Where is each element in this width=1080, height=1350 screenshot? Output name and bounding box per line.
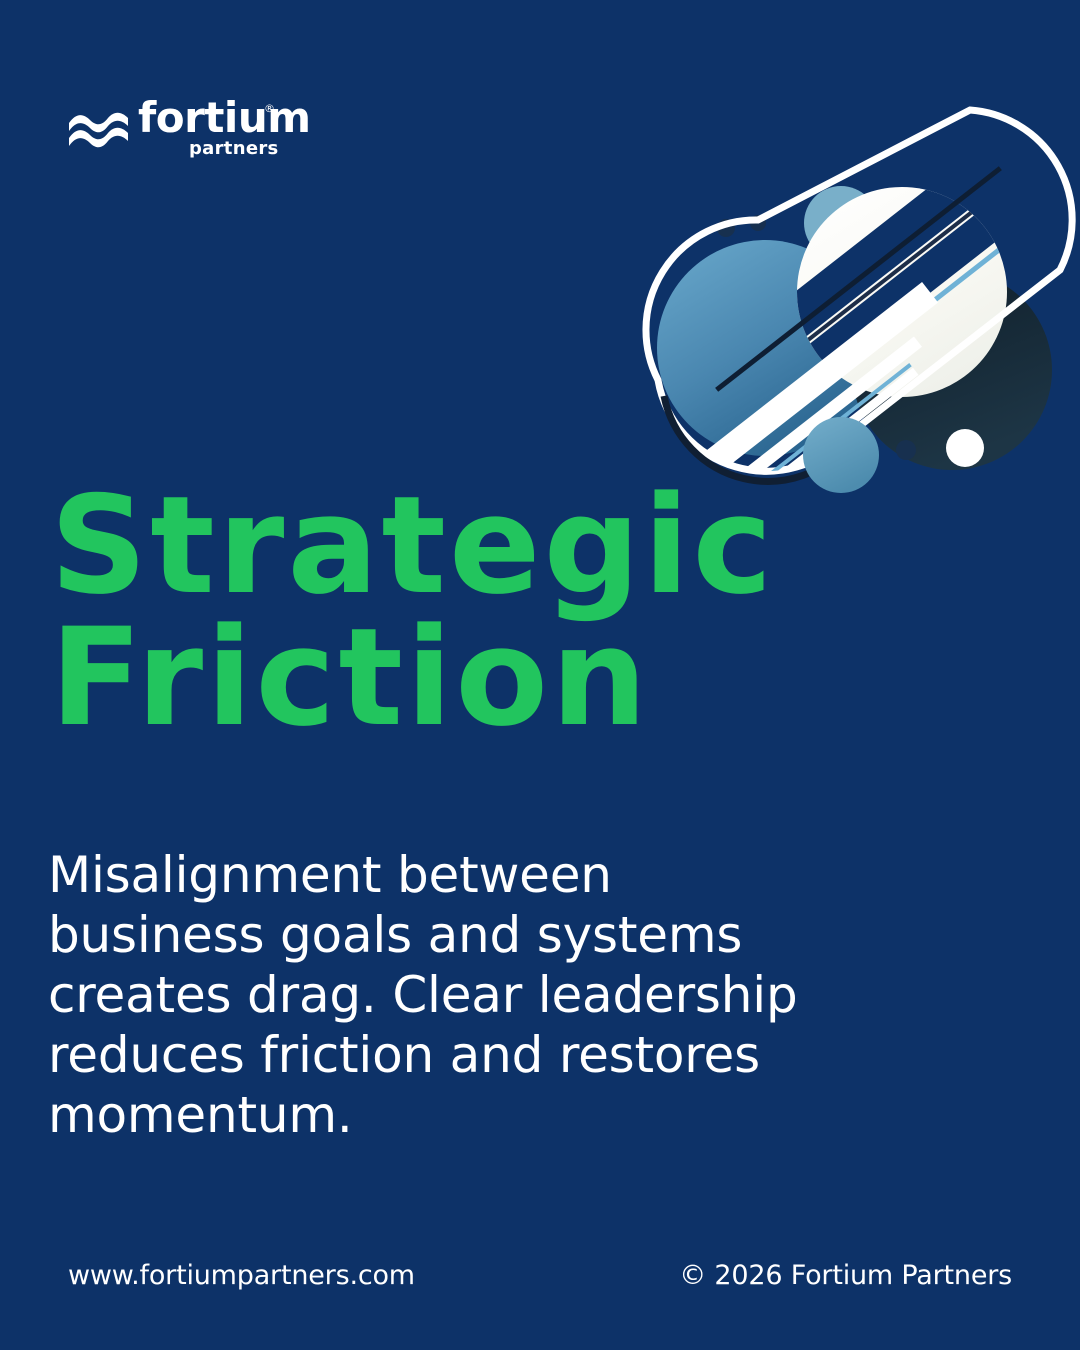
logo-word-fortium: fortium bbox=[138, 97, 310, 139]
logo-word-partners: partners bbox=[189, 140, 279, 158]
social-post-card: fortium ® partners bbox=[0, 0, 1080, 1350]
registered-trademark-icon: ® bbox=[264, 102, 275, 115]
abstract-planet-graphic bbox=[640, 80, 1080, 500]
footer-copyright: © 2026 Fortium Partners bbox=[679, 1262, 1012, 1289]
fortium-partners-logo[interactable]: fortium ® partners bbox=[68, 100, 283, 162]
page-title: Strategic Friction bbox=[50, 480, 1010, 745]
footer: www.fortiumpartners.com © 2026 Fortium P… bbox=[68, 1255, 1012, 1295]
double-wave-icon bbox=[68, 107, 130, 153]
footer-website-link[interactable]: www.fortiumpartners.com bbox=[68, 1262, 415, 1289]
dot-dark-3 bbox=[896, 440, 916, 460]
fortium-wordmark: fortium ® partners bbox=[138, 100, 283, 162]
headline-line-2: Friction bbox=[50, 612, 1010, 744]
dot-white-bottom bbox=[946, 429, 984, 467]
headline-line-1: Strategic bbox=[50, 480, 1010, 612]
body-paragraph: Misalignment between business goals and … bbox=[48, 845, 808, 1145]
